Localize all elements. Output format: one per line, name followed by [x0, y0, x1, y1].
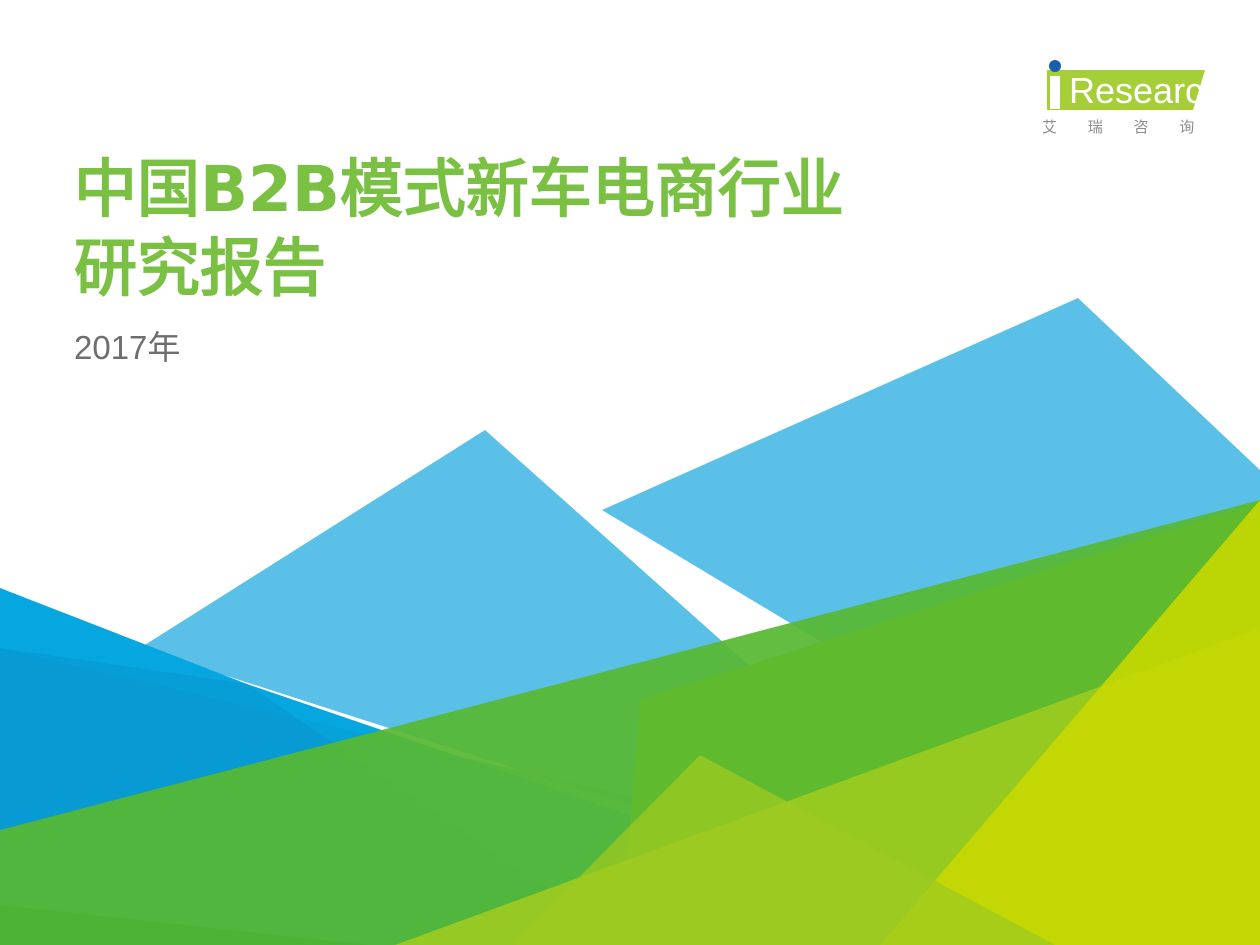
artwork-shape-green-olive [512, 755, 1055, 945]
page-title-line-2: 研究报告 [74, 229, 1034, 308]
logo-research-text: Research [1069, 70, 1205, 111]
artwork-shape-teal-overlap [0, 648, 628, 945]
logo-i-stem [1050, 76, 1060, 109]
page-subtitle-year: 2017年 [74, 328, 1034, 368]
logo-wordmark: Research [1025, 58, 1205, 114]
artwork-shape-green-light [395, 628, 1260, 945]
artwork-shape-green-yellow [620, 502, 1260, 945]
logo-plate-icon: Research [1025, 58, 1205, 114]
artwork-shape-light-blue-left [140, 430, 1063, 945]
artwork-shape-blue-bright [0, 588, 1010, 945]
title-block: 中国B2B模式新车电商行业 研究报告 2017年 [74, 150, 1034, 368]
artwork-shape-green-medium [0, 500, 1260, 945]
report-cover-slide: Research 艾 瑞 咨 询 中国B2B模式新车电商行业 研究报告 2017… [0, 0, 1260, 945]
artwork-shape-light-blue-right [602, 298, 1260, 905]
artwork-shape-green-yellow-bright [880, 500, 1260, 945]
page-title-line-1: 中国B2B模式新车电商行业 [74, 150, 1034, 229]
artwork-shape-light-blue-right-lower [602, 470, 1260, 905]
artwork-shape-blue-deep [0, 648, 1260, 945]
artwork-shape-green-bottom-left [0, 905, 370, 945]
logo-i-dot-icon [1049, 60, 1061, 72]
iresearch-logo: Research 艾 瑞 咨 询 [1025, 58, 1205, 150]
logo-chinese-name: 艾 瑞 咨 询 [1029, 116, 1201, 137]
